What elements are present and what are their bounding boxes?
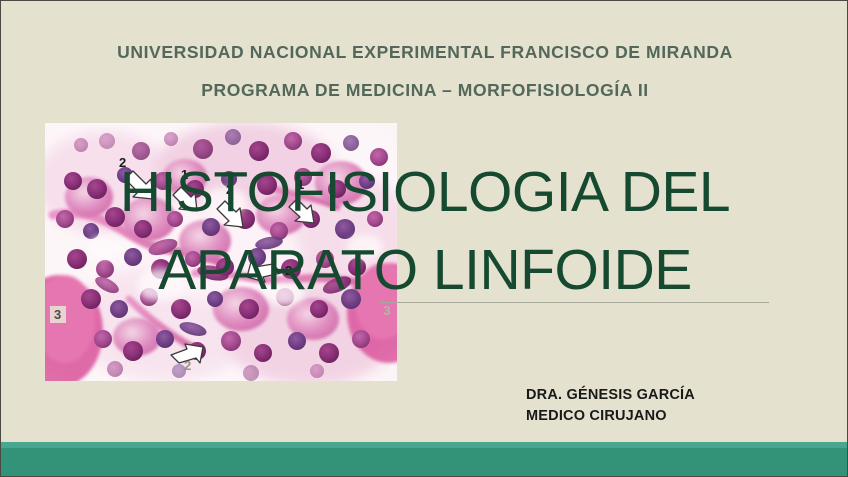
svg-text:3: 3 <box>54 307 61 322</box>
slide-title-line-2: APARATO LINFOIDE <box>87 231 763 309</box>
presenter-name: DRA. GÉNESIS GARCÍA <box>526 385 769 406</box>
presentation-slide: 2 1 2 1 2 2 3 3 UNIVERSIDAD NACIONAL EXP… <box>0 0 848 477</box>
presenter-credit: DRA. GÉNESIS GARCÍA MEDICO CIRUJANO <box>409 385 769 427</box>
slide-title: HISTOFISIOLOGIA DEL APARATO LINFOIDE <box>87 153 763 309</box>
micrograph-label: 2 <box>184 358 191 373</box>
institution-header-line-1: UNIVERSIDAD NACIONAL EXPERIMENTAL FRANCI… <box>1 35 848 69</box>
micrograph-label-box: 3 <box>50 306 66 323</box>
accent-band-main <box>1 448 848 477</box>
title-divider-rule <box>380 302 769 303</box>
institution-header-line-2: PROGRAMA DE MEDICINA – MORFOFISIOLOGÍA I… <box>1 73 848 107</box>
slide-title-line-1: HISTOFISIOLOGIA DEL <box>87 153 763 231</box>
presenter-role: MEDICO CIRUJANO <box>526 406 769 427</box>
